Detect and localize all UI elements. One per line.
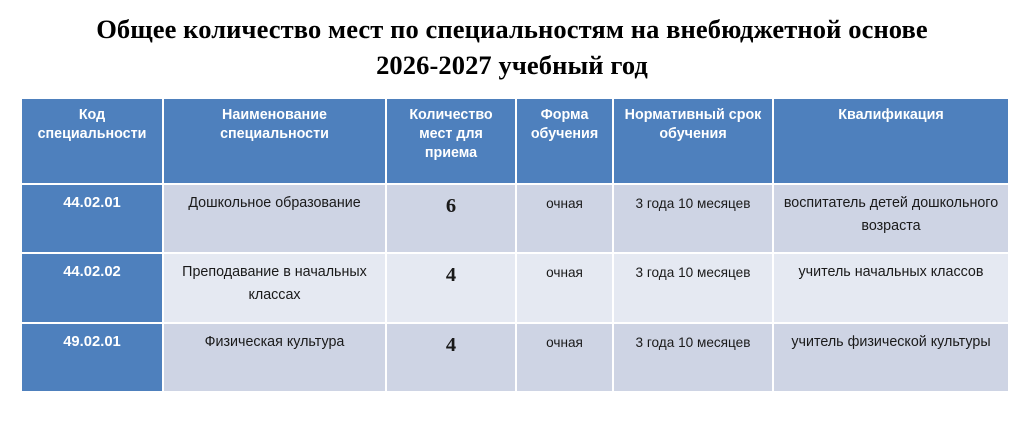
table-row: 49.02.01 Физическая культура 4 очная 3 г…	[22, 324, 1008, 391]
specialties-table: Код специальности Наименование специальн…	[20, 97, 1010, 393]
cell-code: 44.02.02	[22, 254, 162, 322]
cell-code: 49.02.01	[22, 324, 162, 391]
cell-seats: 6	[387, 185, 515, 252]
page-title-line-2: 2026-2027 учебный год	[0, 47, 1024, 83]
cell-seats: 4	[387, 254, 515, 322]
column-header-form: Форма обучения	[517, 99, 612, 183]
table-body: 44.02.01 Дошкольное образование 6 очная …	[22, 185, 1008, 391]
cell-qualification: учитель физической культуры	[774, 324, 1008, 391]
specialties-table-container: Код специальности Наименование специальн…	[20, 97, 1004, 393]
cell-name: Дошкольное образование	[164, 185, 385, 252]
cell-name: Преподавание в начальных классах	[164, 254, 385, 322]
cell-term: 3 года 10 месяцев	[614, 185, 772, 252]
page-title-line-1: Общее количество мест по специальностям …	[0, 11, 1024, 47]
cell-term: 3 года 10 месяцев	[614, 254, 772, 322]
cell-qualification: воспитатель детей дошкольного возраста	[774, 185, 1008, 252]
column-header-seats: Количество мест для приема	[387, 99, 515, 183]
page-title: Общее количество мест по специальностям …	[0, 0, 1024, 83]
column-header-code: Код специальности	[22, 99, 162, 183]
column-header-name: Наименование специальности	[164, 99, 385, 183]
cell-form: очная	[517, 324, 612, 391]
cell-code: 44.02.01	[22, 185, 162, 252]
cell-form: очная	[517, 185, 612, 252]
table-header: Код специальности Наименование специальн…	[22, 99, 1008, 183]
cell-form: очная	[517, 254, 612, 322]
table-row: 44.02.01 Дошкольное образование 6 очная …	[22, 185, 1008, 252]
cell-term: 3 года 10 месяцев	[614, 324, 772, 391]
cell-qualification: учитель начальных классов	[774, 254, 1008, 322]
page-root: Общее количество мест по специальностям …	[0, 0, 1024, 421]
cell-seats: 4	[387, 324, 515, 391]
column-header-term: Нормативный срок обучения	[614, 99, 772, 183]
cell-name: Физическая культура	[164, 324, 385, 391]
table-header-row: Код специальности Наименование специальн…	[22, 99, 1008, 183]
column-header-qualification: Квалификация	[774, 99, 1008, 183]
table-row: 44.02.02 Преподавание в начальных класса…	[22, 254, 1008, 322]
